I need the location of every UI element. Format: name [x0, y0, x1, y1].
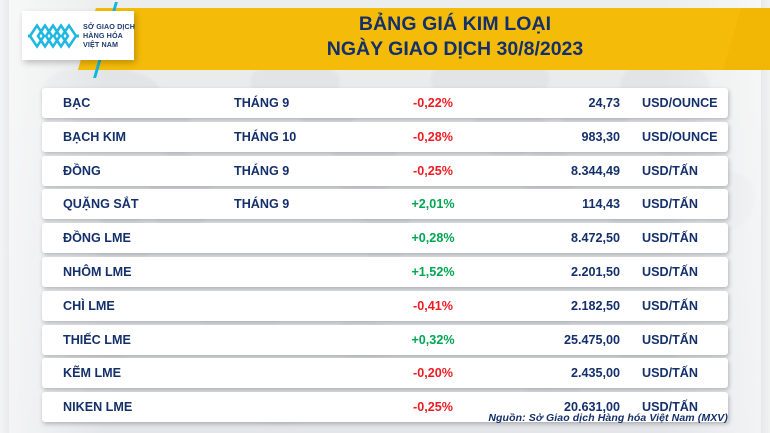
- cell-month: THÁNG 9: [224, 197, 374, 211]
- cell-change: +1,52%: [374, 265, 492, 279]
- cell-change: +0,28%: [374, 231, 492, 245]
- cell-change: -0,28%: [374, 130, 492, 144]
- cell-change: +0,32%: [374, 333, 492, 347]
- cell-change: -0,41%: [374, 299, 492, 313]
- cell-price: 983,30: [492, 130, 620, 144]
- cell-name: BẠC: [42, 96, 224, 110]
- mxv-chevron-logo-icon: [27, 19, 80, 53]
- table-row[interactable]: KẼM LME-0,20%2.435,00USD/TẤN: [42, 358, 728, 388]
- cell-month: THÁNG 9: [224, 164, 374, 178]
- cell-price: 2.201,50: [492, 265, 620, 279]
- logo-line-1: SỞ GIAO DỊCH: [83, 22, 135, 31]
- cell-unit: USD/OUNCE: [620, 130, 728, 144]
- table-row[interactable]: QUẶNG SẮTTHÁNG 9+2,01%114,43USD/TẤN: [42, 189, 728, 219]
- metal-price-board: SỞ GIAO DỊCH HÀNG HÓA VIỆT NAM BẢNG GIÁ …: [0, 0, 770, 433]
- cell-name: NHÔM LME: [42, 265, 224, 279]
- cell-unit: USD/TẤN: [620, 197, 728, 211]
- cell-price: 2.182,50: [492, 299, 620, 313]
- cell-price: 8.344,49: [492, 164, 620, 178]
- table-row[interactable]: CHÌ LME-0,41%2.182,50USD/TẤN: [42, 291, 728, 321]
- table-row[interactable]: BẠCH KIMTHÁNG 10-0,28%983,30USD/OUNCE: [42, 122, 728, 152]
- table-row[interactable]: ĐỒNGTHÁNG 9-0,25%8.344,49USD/TẤN: [42, 156, 728, 186]
- logo-wordmark: SỞ GIAO DỊCH HÀNG HÓA VIỆT NAM: [83, 22, 135, 50]
- cell-price: 114,43: [492, 197, 620, 211]
- cell-name: THIẾC LME: [42, 333, 224, 347]
- page-title-line-2: NGÀY GIAO DỊCH 30/8/2023: [190, 37, 720, 62]
- cell-price: 24,73: [492, 96, 620, 110]
- logo-line-3: VIỆT NAM: [83, 40, 118, 49]
- cell-unit: USD/TẤN: [620, 366, 728, 380]
- cell-change: +2,01%: [374, 197, 492, 211]
- cell-name: ĐỒNG: [42, 164, 224, 178]
- table-row[interactable]: NHÔM LME+1,52%2.201,50USD/TẤN: [42, 257, 728, 287]
- cell-change: -0,25%: [374, 164, 492, 178]
- cell-unit: USD/TẤN: [620, 231, 728, 245]
- cell-name: BẠCH KIM: [42, 130, 224, 144]
- cell-price: 2.435,00: [492, 366, 620, 380]
- source-note: Nguồn: Sở Giao dịch Hàng hóa Việt Nam (M…: [488, 412, 728, 424]
- cell-name: NIKEN LME: [42, 400, 224, 414]
- cell-month: THÁNG 10: [224, 130, 374, 144]
- cell-price: 8.472,50: [492, 231, 620, 245]
- cell-unit: USD/OUNCE: [620, 96, 728, 110]
- cell-month: THÁNG 9: [224, 96, 374, 110]
- cell-unit: USD/TẤN: [620, 333, 728, 347]
- logo-line-2: HÀNG HÓA: [83, 31, 123, 40]
- cell-name: ĐỒNG LME: [42, 231, 224, 245]
- cell-change: -0,20%: [374, 366, 492, 380]
- table-row[interactable]: BẠCTHÁNG 9-0,22%24,73USD/OUNCE: [42, 88, 728, 118]
- cell-unit: USD/TẤN: [620, 299, 728, 313]
- header: SỞ GIAO DỊCH HÀNG HÓA VIỆT NAM BẢNG GIÁ …: [0, 0, 770, 79]
- table-row[interactable]: ĐỒNG LME+0,28%8.472,50USD/TẤN: [42, 223, 728, 253]
- cell-name: KẼM LME: [42, 366, 224, 380]
- page-title-line-1: BẢNG GIÁ KIM LOẠI: [190, 12, 720, 37]
- cell-change: -0,22%: [374, 96, 492, 110]
- cell-change: -0,25%: [374, 400, 492, 414]
- cell-unit: USD/TẤN: [620, 164, 728, 178]
- logo-card: SỞ GIAO DỊCH HÀNG HÓA VIỆT NAM: [22, 11, 134, 60]
- cell-unit: USD/TẤN: [620, 265, 728, 279]
- table-row[interactable]: THIẾC LME+0,32%25.475,00USD/TẤN: [42, 325, 728, 355]
- price-table: BẠCTHÁNG 9-0,22%24,73USD/OUNCEBẠCH KIMTH…: [42, 88, 728, 426]
- page-title: BẢNG GIÁ KIM LOẠI NGÀY GIAO DỊCH 30/8/20…: [190, 12, 720, 62]
- cell-name: QUẶNG SẮT: [42, 197, 224, 211]
- cell-price: 25.475,00: [492, 333, 620, 347]
- cell-name: CHÌ LME: [42, 299, 224, 313]
